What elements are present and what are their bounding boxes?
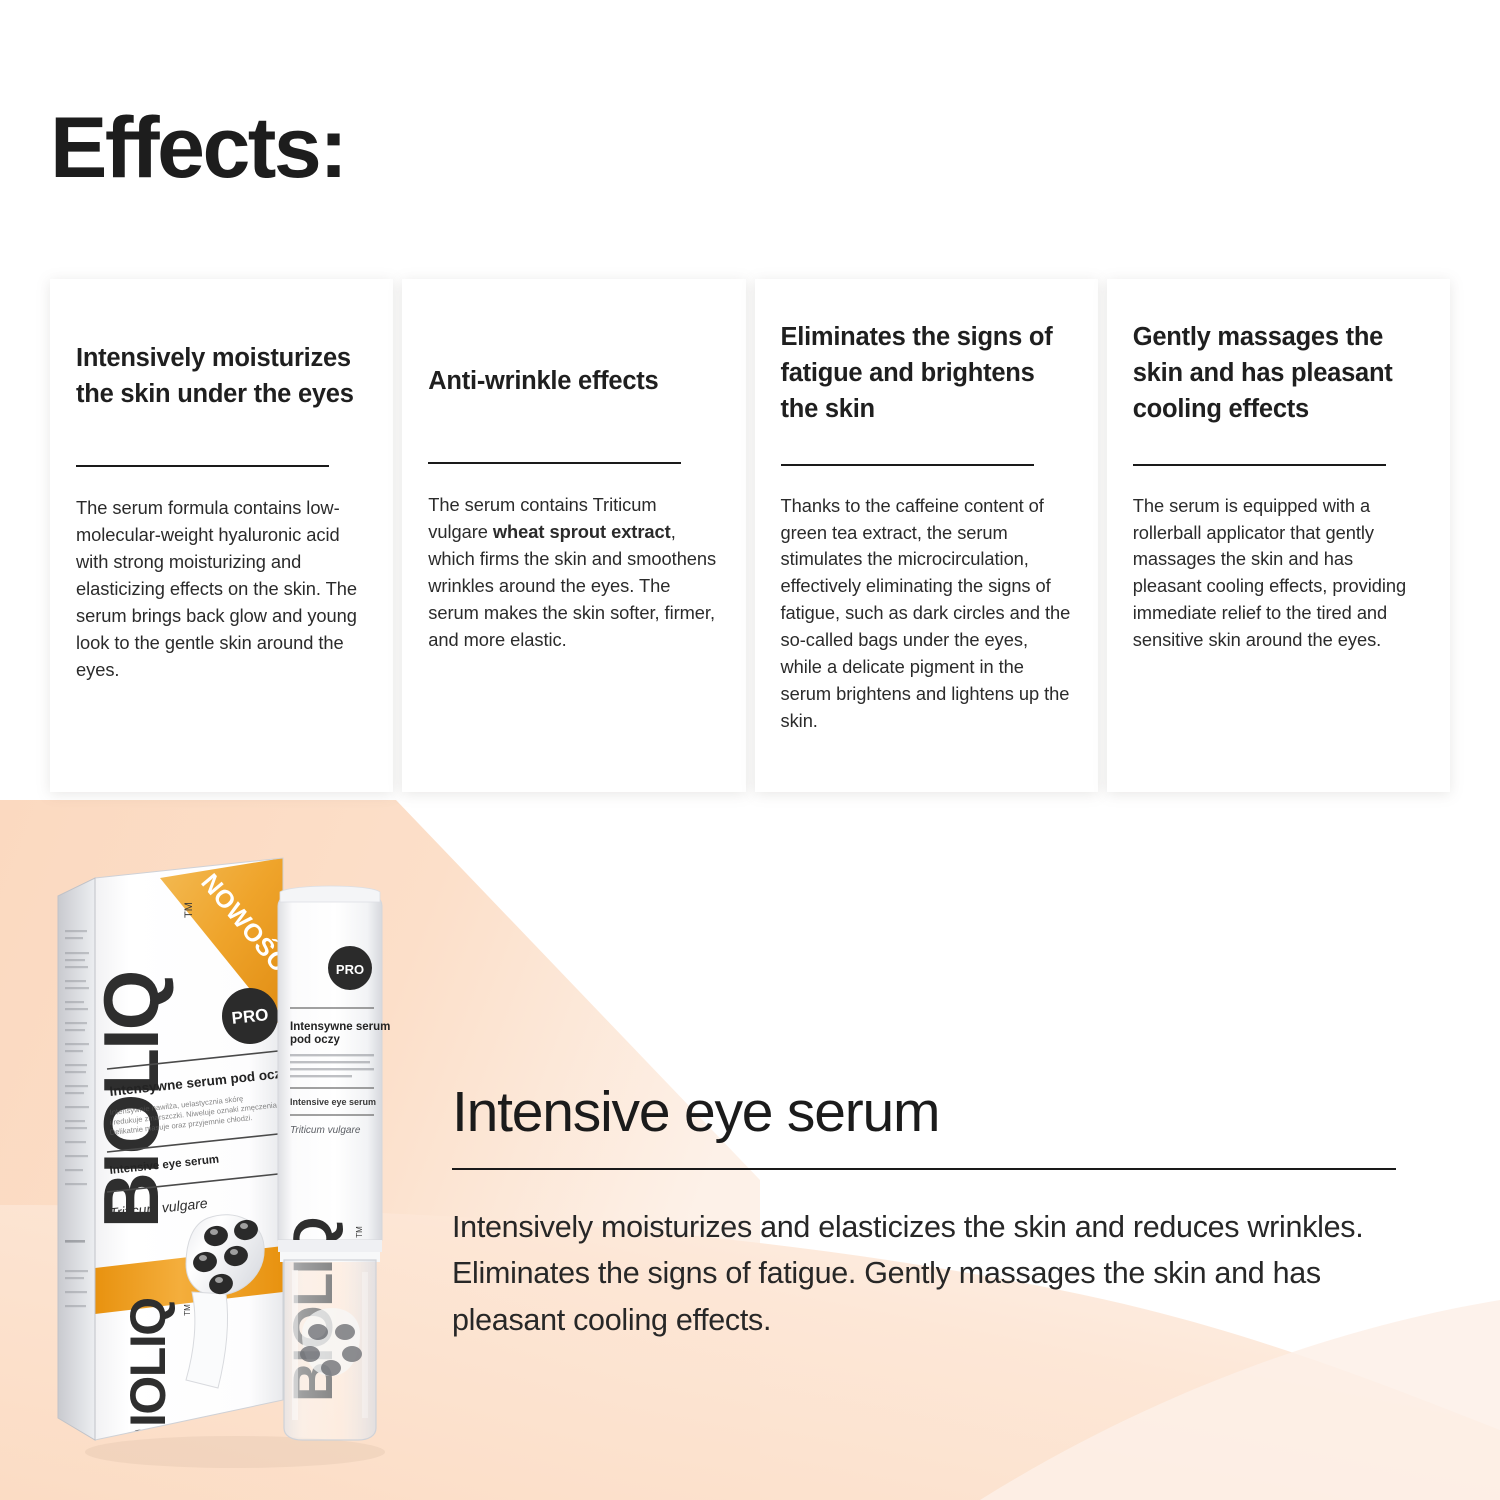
tube-top-seal: [280, 886, 380, 902]
card-body: The serum is equipped with a rollerball …: [1133, 493, 1424, 654]
card-body: The serum formula contains low-molecular…: [76, 495, 367, 683]
box-trademark-symbol: TM: [183, 902, 195, 918]
card-body: The serum contains Triticum vulgare whea…: [428, 492, 719, 653]
product-tube: PRO Intensywne serum pod oczy Intensive …: [278, 886, 390, 1440]
product-packshot: NOWOŚĆ BIOLIQ TM PRO Intensywne serum po…: [40, 840, 460, 1480]
card-divider: [781, 464, 1034, 466]
card-title: Gently massages the skin and has pleasan…: [1133, 319, 1424, 428]
tube-product-name-en: Intensive eye serum: [290, 1097, 376, 1107]
card-title: Eliminates the signs of fatigue and brig…: [781, 319, 1072, 428]
hero-title: Intensive eye serum: [452, 1084, 1396, 1141]
box-trademark-symbol-bottom: TM: [183, 1304, 192, 1316]
effect-card-massage: Gently massages the skin and has pleasan…: [1107, 279, 1450, 792]
tube-ingredient-name: Triticum vulgare: [290, 1125, 361, 1136]
page-title: Effects:: [50, 103, 345, 193]
effect-card-anti-wrinkle: Anti-wrinkle effects The serum contains …: [402, 279, 745, 792]
box-brand-wordmark-bottom: BIOLIQ: [120, 1298, 176, 1461]
card-title: Intensively moisturizes the skin under t…: [76, 340, 367, 412]
card-body: Thanks to the caffeine content of green …: [781, 493, 1072, 735]
effects-card-grid: Intensively moisturizes the skin under t…: [50, 279, 1450, 792]
card-title: Anti-wrinkle effects: [428, 363, 719, 399]
tube-pro-label: PRO: [336, 962, 364, 977]
product-marketing-page: Effects: Intensively moisturizes the ski…: [0, 0, 1500, 1500]
tube-trademark-symbol: TM: [355, 1226, 364, 1238]
effect-card-moisturizes: Intensively moisturizes the skin under t…: [50, 279, 393, 792]
tube-product-name-pl-2: pod oczy: [290, 1034, 340, 1046]
card-body-highlight: wheat sprout extract: [493, 521, 671, 542]
effect-card-fatigue: Eliminates the signs of fatigue and brig…: [755, 279, 1098, 792]
hero-divider: [452, 1168, 1396, 1170]
card-divider: [428, 462, 681, 464]
card-divider: [1133, 464, 1386, 466]
box-side-panel: [58, 878, 95, 1440]
hero-description: Intensively moisturizes and elasticizes …: [452, 1204, 1396, 1343]
tube-product-name-pl-1: Intensywne serum: [290, 1021, 390, 1033]
card-divider: [76, 465, 329, 467]
pro-badge-label: PRO: [231, 1005, 270, 1028]
product-hero-text: Intensive eye serum Intensively moisturi…: [452, 1084, 1396, 1343]
